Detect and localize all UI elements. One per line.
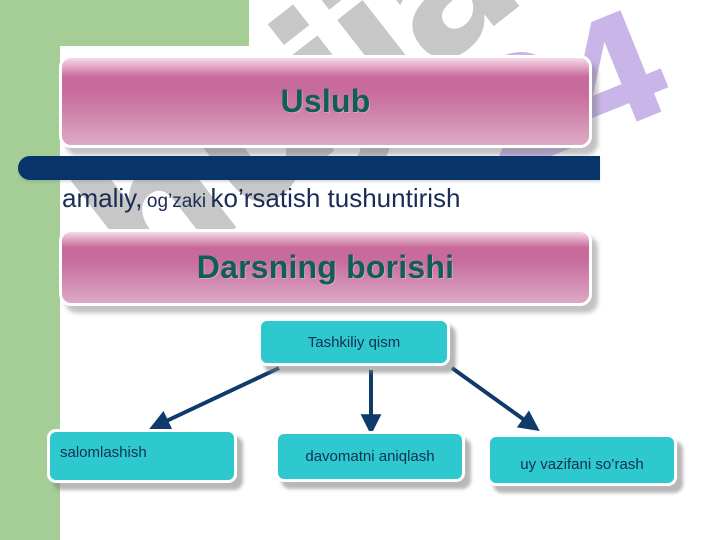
arrow-to-uy-vazifani: [452, 368, 530, 424]
diagram-node-label: Tashkiliy qism: [261, 334, 447, 351]
diagram-node-davomatni-aniqlash[interactable]: davomatni aniqlash: [275, 431, 465, 482]
diagram-node-label: davomatni aniqlash: [278, 448, 462, 465]
method-list-line: amaliy, og’zaki ko’rsatish tushuntirish: [62, 183, 662, 214]
diagram-node-label: salomlashish: [50, 432, 234, 461]
heading-plaque-darsning-borishi: Darsning borishi: [59, 229, 592, 306]
diagram-node-uy-vazifani-sorash[interactable]: uy vazifani so’rash: [487, 434, 677, 486]
heading-uslub-text: Uslub: [281, 83, 371, 120]
diagram-node-salomlashish[interactable]: salomlashish: [47, 429, 237, 483]
heading-darsning-borishi-text: Darsning borishi: [197, 249, 454, 286]
diagram-node-label: uy vazifani so’rash: [490, 456, 674, 483]
method-word-ogzaki: og’zaki: [147, 191, 206, 212]
method-word-amaliy: amaliy,: [62, 183, 142, 213]
top-green-band: [60, 0, 249, 46]
method-word-korsatish: ko’rsatish tushuntirish: [211, 183, 461, 213]
arrow-to-salomlashish: [160, 368, 279, 424]
slide-canvas: hujjat 24 Uslub amaliy, og’zaki ko’rsati…: [0, 0, 720, 540]
navy-divider-bar: [18, 156, 600, 180]
diagram-node-tashkiliy-qism[interactable]: Tashkiliy qism: [258, 318, 450, 366]
heading-plaque-uslub: Uslub: [59, 55, 592, 148]
